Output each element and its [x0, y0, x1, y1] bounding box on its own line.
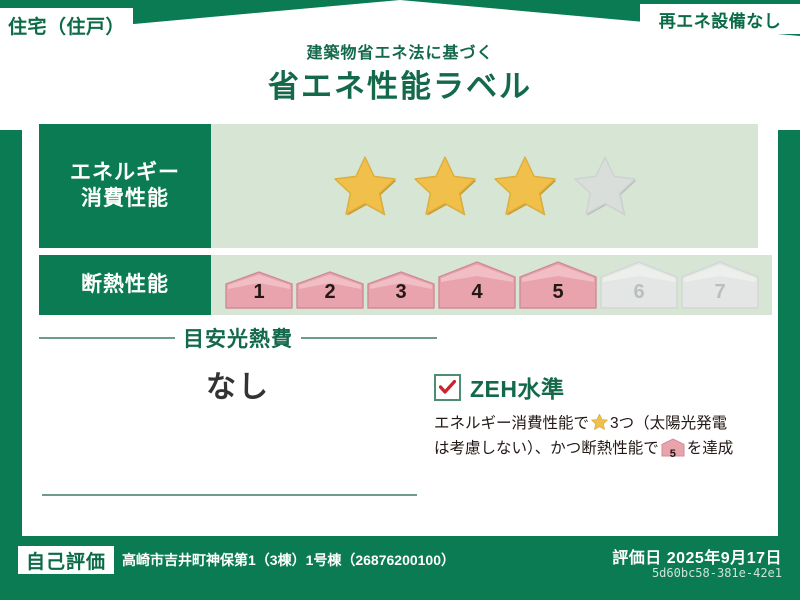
energy-label-line1: エネルギー — [70, 160, 180, 186]
energy-performance-value-box — [211, 124, 758, 248]
zeh-text-part2: は考慮しない）、かつ断熱性能で — [434, 440, 659, 457]
insulation-level-number: 2 — [296, 281, 364, 304]
heading-rule-left — [39, 337, 175, 339]
star-icon-empty — [569, 151, 641, 221]
utility-cost-value: なし — [39, 362, 437, 406]
building-type-tag: 住宅（住戸） — [0, 8, 133, 42]
insulation-level-2: 2 — [296, 271, 364, 309]
zeh-star-count: 3つ（太陽光発電 — [610, 415, 727, 432]
energy-performance-label: 住宅（住戸） 再エネ設備なし 建築物省エネ法に基づく 省エネ性能ラベル エネルギ… — [0, 0, 800, 600]
insulation-level-number: 6 — [600, 281, 678, 304]
insulation-level-3: 3 — [367, 271, 435, 309]
insulation-level-7: 7 — [681, 261, 759, 309]
energy-label-line2: 消費性能 — [81, 186, 169, 212]
evaluation-date: 評価日 2025年9月17日 — [612, 544, 782, 568]
energy-performance-row: エネルギー 消費性能 — [39, 124, 758, 248]
star-rating — [329, 151, 641, 221]
renewable-energy-tag: 再エネ設備なし — [640, 4, 800, 34]
insulation-level-scale: 1234567 — [225, 261, 759, 309]
property-address: 高崎市吉井町神保第1（3棟）1号棟（26876200100） — [122, 550, 455, 570]
star-icon-filled — [489, 151, 561, 221]
title-block: 建築物省エネ法に基づく 省エネ性能ラベル — [0, 46, 800, 102]
star-icon-filled — [409, 151, 481, 221]
check-icon — [439, 380, 456, 394]
zeh-description: エネルギー消費性能で 3つ（太陽光発電 は考慮しない）、かつ断熱性能で 5 を達… — [434, 411, 764, 465]
insulation-performance-label-box: 断熱性能 — [39, 255, 211, 315]
insulation-performance-value-box: 1234567 — [211, 255, 772, 315]
insulation-level-6: 6 — [600, 261, 678, 309]
zeh-block: ZEH水準 エネルギー消費性能で 3つ（太陽光発電 は考慮しない）、かつ断熱性能… — [434, 370, 764, 465]
insulation-level-5: 5 — [519, 261, 597, 309]
title-subtitle: 建築物省エネ法に基づく — [0, 46, 800, 62]
zeh-heading: ZEH水準 — [434, 370, 764, 404]
zeh-title: ZEH水準 — [470, 370, 565, 404]
insulation-level-1: 1 — [225, 271, 293, 309]
zeh-text-part3: を達成 — [687, 440, 734, 457]
insulation-level-number: 1 — [225, 281, 293, 304]
insulation-performance-row: 断熱性能 1234567 — [39, 255, 772, 315]
star-icon — [590, 413, 609, 431]
insulation-level-number: 7 — [681, 281, 759, 304]
zeh-checkbox[interactable] — [434, 374, 461, 401]
star-icon-filled — [329, 151, 401, 221]
page-title: 省エネ性能ラベル — [0, 71, 800, 102]
energy-performance-label-box: エネルギー 消費性能 — [39, 124, 211, 248]
utility-cost-heading-text: 目安光熱費 — [183, 323, 293, 353]
insulation-level-number: 4 — [438, 281, 516, 304]
utility-cost-heading: 目安光熱費 — [39, 327, 437, 349]
evaluation-type-badge: 自己評価 — [18, 546, 114, 574]
evaluation-id: 5d60bc58-381e-42e1 — [652, 566, 782, 580]
zeh-text-part1: エネルギー消費性能で — [434, 415, 589, 432]
insulation-level-number: 3 — [367, 281, 435, 304]
label-footer: 自己評価 高崎市吉井町神保第1（3棟）1号棟（26876200100） 評価日 … — [0, 536, 800, 600]
label-card: エネルギー 消費性能 断熱性能 1234567 目安光熱費 なし — [22, 112, 778, 536]
utility-cost-bottom-rule — [42, 494, 417, 496]
insulation-label: 断熱性能 — [81, 272, 169, 298]
heading-rule-right — [301, 337, 437, 339]
insulation-level-4: 4 — [438, 261, 516, 309]
insulation-level-number: 5 — [519, 281, 597, 304]
insulation-level-icon-number: 5 — [661, 446, 685, 464]
insulation-level-icon: 5 — [661, 438, 685, 465]
